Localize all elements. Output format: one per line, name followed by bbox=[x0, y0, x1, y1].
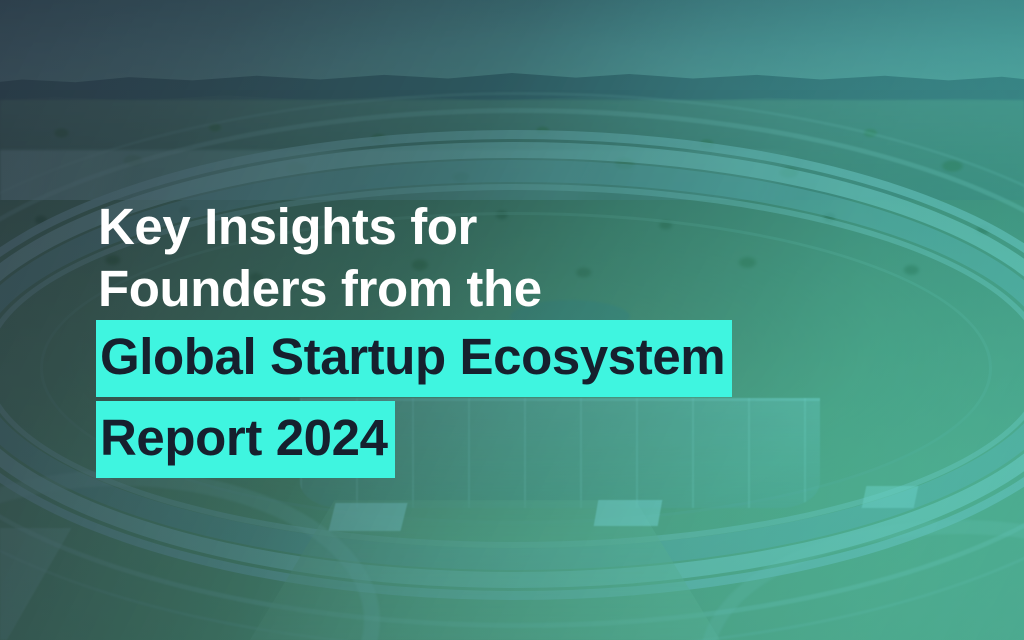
hero-banner: Key Insights for Founders from the Globa… bbox=[0, 0, 1024, 640]
headline-block: Key Insights for Founders from the Globa… bbox=[96, 196, 896, 478]
headline-line-2: Founders from the bbox=[96, 258, 896, 320]
headline-line-3-highlighted: Global Startup Ecosystem bbox=[96, 320, 732, 397]
headline-line-1: Key Insights for bbox=[96, 196, 896, 258]
headline-line-4-highlighted: Report 2024 bbox=[96, 401, 395, 478]
